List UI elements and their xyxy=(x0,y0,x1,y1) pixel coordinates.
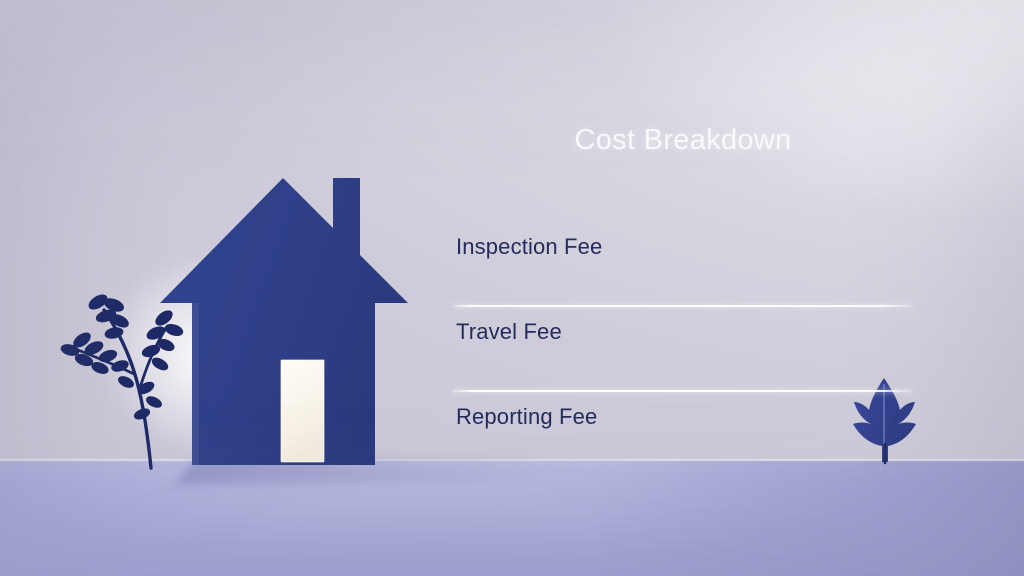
plant-leaf xyxy=(145,395,163,410)
list-divider xyxy=(453,305,912,307)
list-item[interactable]: Inspection Fee xyxy=(453,220,913,305)
fee-list: Inspection Fee Travel Fee Reporting Fee xyxy=(453,220,913,475)
fee-label-travel: Travel Fee xyxy=(456,319,562,345)
cost-breakdown-panel: Cost Breakdown Inspection Fee Travel Fee… xyxy=(453,110,913,440)
list-divider xyxy=(453,390,912,392)
list-item[interactable]: Travel Fee xyxy=(453,305,913,390)
plant-leaf xyxy=(141,343,161,359)
house-door xyxy=(281,360,324,462)
fee-label-reporting: Reporting Fee xyxy=(456,404,597,430)
fee-label-inspection: Inspection Fee xyxy=(456,234,602,260)
branch-plant-icon xyxy=(56,288,181,468)
plant-leaf xyxy=(133,407,151,421)
house-icon xyxy=(150,170,420,465)
illustration-scene: Cost Breakdown Inspection Fee Travel Fee… xyxy=(0,0,1024,576)
list-item[interactable]: Reporting Fee xyxy=(453,390,913,475)
plant-leaf xyxy=(150,356,169,372)
plant-leaf xyxy=(117,374,135,389)
plant-leaf xyxy=(98,348,118,364)
house-rim-light xyxy=(192,303,199,465)
page-title: Cost Breakdown xyxy=(453,124,913,157)
ground-shadow-right xyxy=(600,461,1024,576)
